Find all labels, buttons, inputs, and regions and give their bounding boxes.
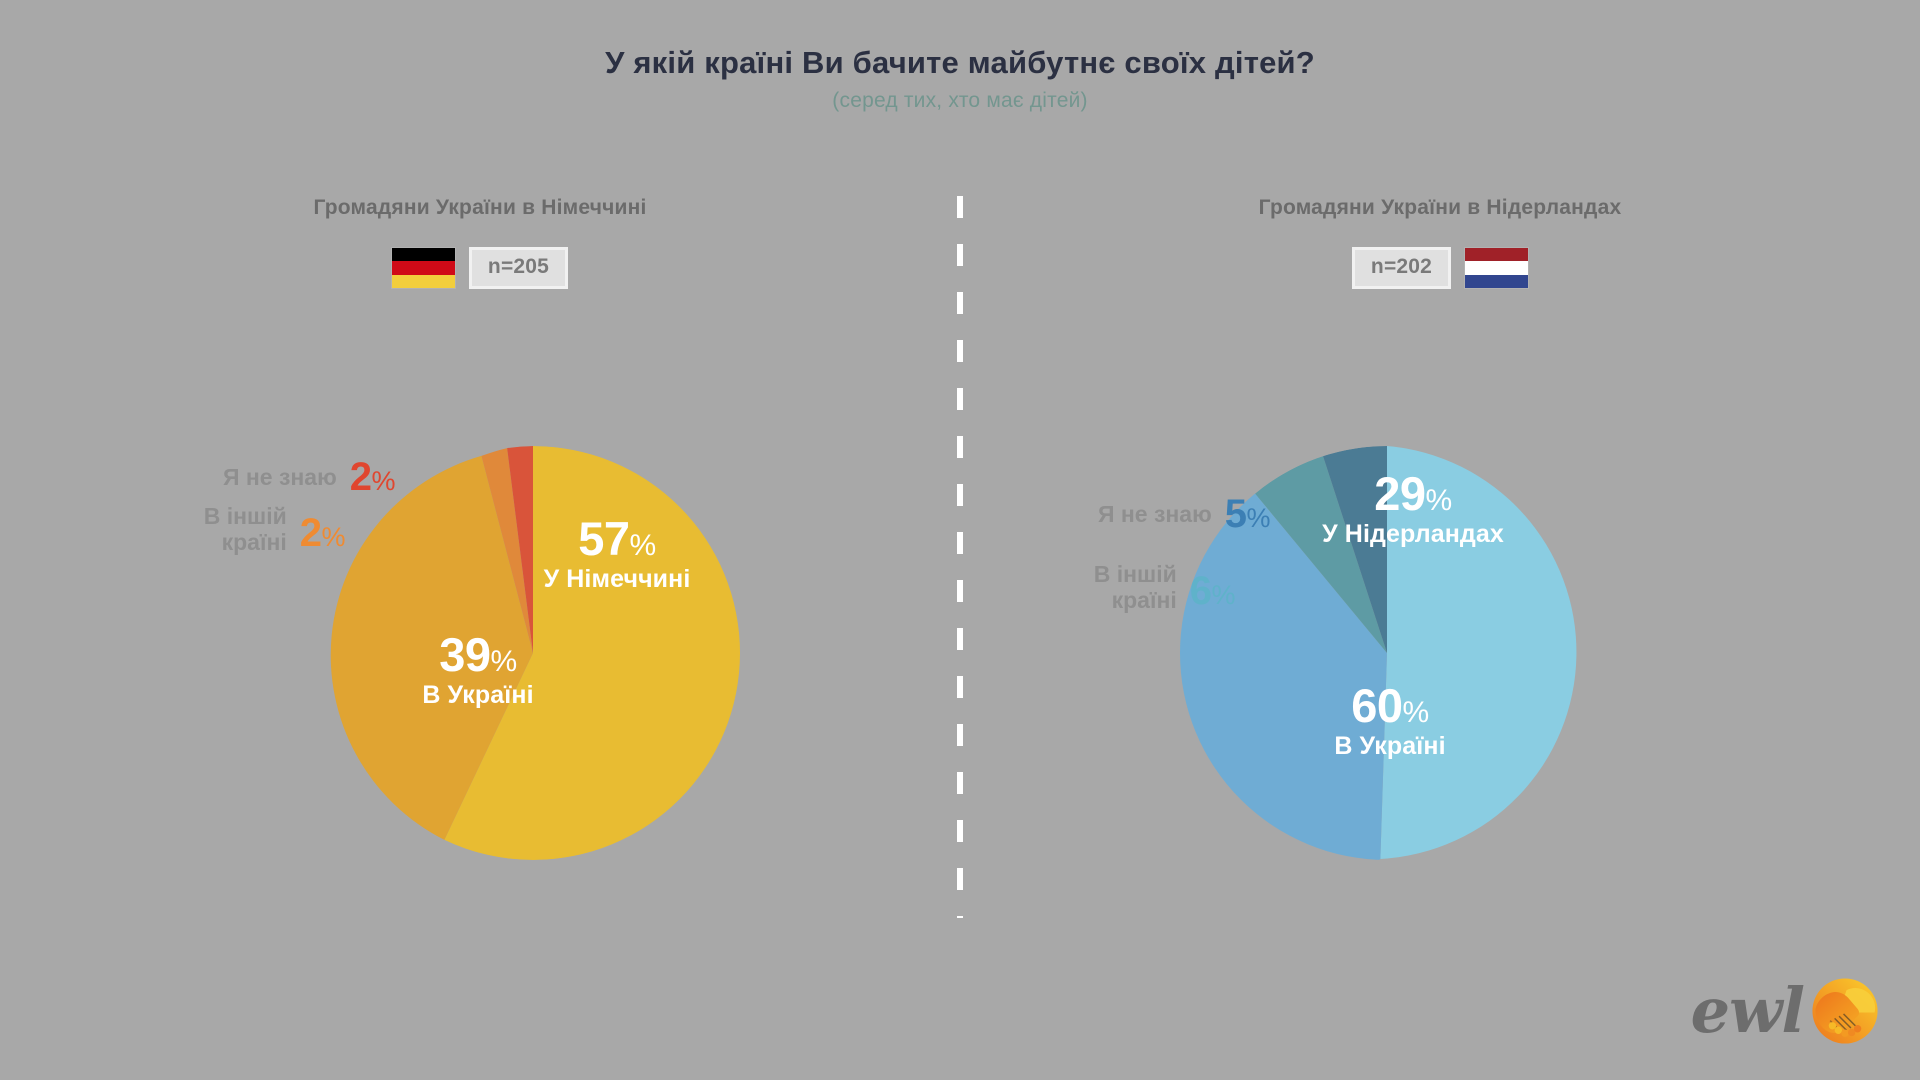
panel-germany: Громадяни України в Німеччині n=205 [0, 196, 960, 956]
callout-germany-other: В іншій країні 2% [60, 504, 345, 556]
panel-netherlands-badge-row: n=202 [960, 247, 1920, 289]
panel-germany-header: Громадяни України в Німеччині [0, 196, 960, 222]
sample-size-badge-netherlands: n=202 [1352, 247, 1451, 288]
ewl-logo-text: ewl [1691, 980, 1804, 1042]
panel-germany-badge-row: n=205 [0, 247, 960, 289]
pie-slice-netherlands-29 [1380, 446, 1576, 859]
sample-size-badge-germany: n=205 [469, 247, 568, 288]
handshake-icon [1808, 974, 1882, 1048]
pie-chart-germany [326, 446, 740, 860]
callout-germany-dontknow: Я не знаю 2% [60, 455, 395, 500]
germany-flag [392, 248, 455, 288]
pie-wrap-netherlands: 29% У Нідерландах 60% В Україні Я не зна… [960, 446, 1920, 916]
callout-netherlands-other: В іншій країні 6% [930, 562, 1235, 614]
panel-netherlands: Громадяни України в Нідерландах n=202 [960, 196, 1920, 956]
pie-chart-germany-svg [326, 446, 740, 860]
pie-wrap-germany: 57% У Німеччині 39% В Україні Я не знаю … [0, 446, 960, 916]
callout-netherlands-other-name: В іншій країні [1094, 562, 1177, 614]
callout-germany-other-value: 2% [300, 511, 345, 556]
callout-netherlands-dontknow-value: 5% [1225, 492, 1270, 537]
page-header: У якій країні Ви бачите майбутнє своїх д… [0, 0, 1920, 113]
callout-netherlands-dontknow-name: Я не знаю [1098, 502, 1212, 528]
panel-netherlands-header: Громадяни України в Нідерландах [960, 196, 1920, 222]
callout-netherlands-other-value: 6% [1190, 569, 1235, 614]
callout-germany-dontknow-name: Я не знаю [223, 465, 337, 491]
callout-germany-other-name: В іншій країні [204, 504, 287, 556]
ewl-logo: ewl [1691, 974, 1882, 1048]
netherlands-flag [1465, 248, 1528, 288]
page-subtitle: (серед тих, хто має дітей) [0, 89, 1920, 113]
page-title: У якій країні Ви бачите майбутнє своїх д… [0, 44, 1920, 81]
callout-netherlands-dontknow: Я не знаю 5% [930, 492, 1270, 537]
callout-germany-dontknow-value: 2% [350, 455, 395, 500]
